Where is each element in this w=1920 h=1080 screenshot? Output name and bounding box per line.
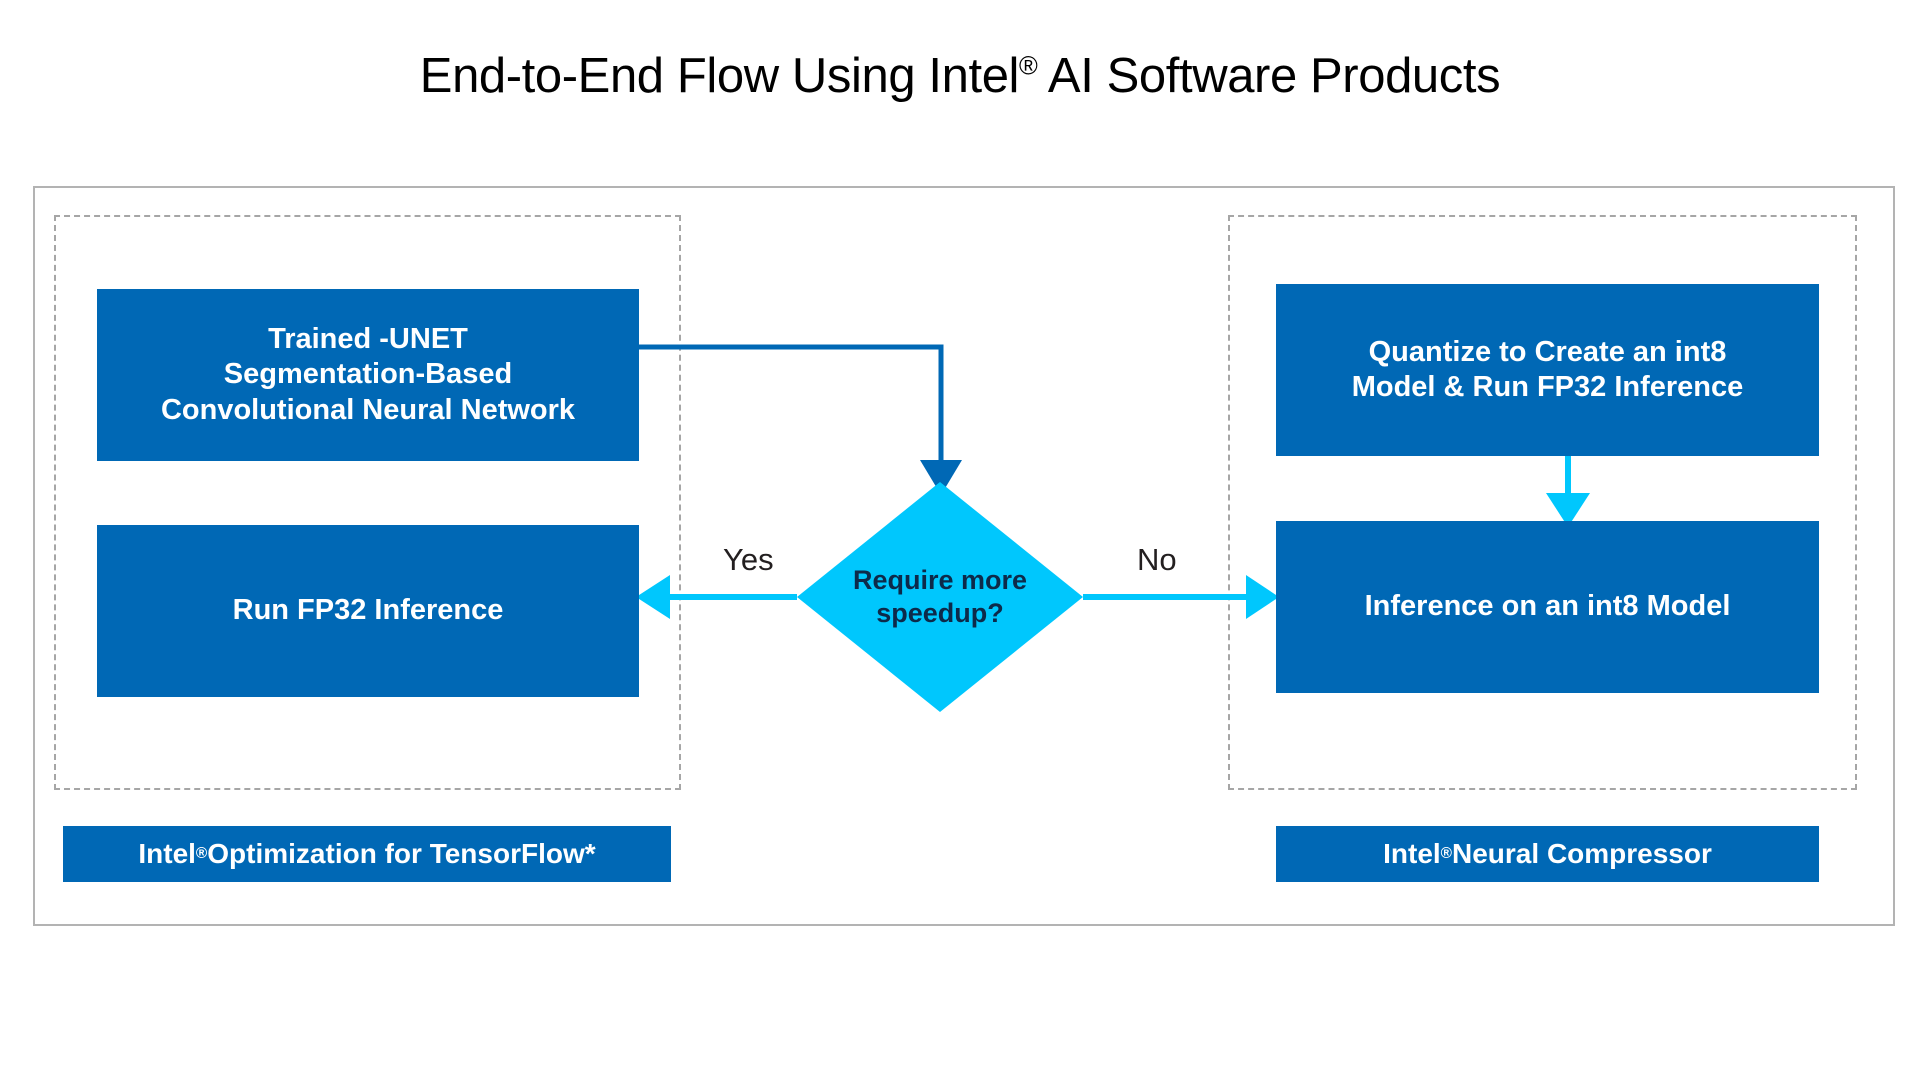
page-title: End-to-End Flow Using Intel® AI Software… <box>0 48 1920 104</box>
registered-mark-icon: ® <box>1019 53 1037 81</box>
process-box-quantize-int8[interactable]: Quantize to Create an int8 Model & Run F… <box>1276 284 1819 456</box>
page-title-suffix: AI Software Products <box>1037 49 1500 103</box>
product-label-intel-neural-compressor[interactable]: Intel® Neural Compressor <box>1276 826 1819 882</box>
product-label-tensorflow-suffix: Optimization for TensorFlow* <box>207 838 595 870</box>
product-label-compressor-prefix: Intel <box>1383 838 1441 870</box>
process-box-inference-int8-model-label: Inference on an int8 Model <box>1365 589 1731 624</box>
process-box-quantize-int8-label: Quantize to Create an int8 Model & Run F… <box>1352 335 1744 406</box>
process-box-inference-int8-model[interactable]: Inference on an int8 Model <box>1276 521 1819 693</box>
edge-label-yes: Yes <box>723 542 774 578</box>
edge-label-no: No <box>1137 542 1177 578</box>
process-box-trained-unet[interactable]: Trained -UNET Segmentation-Based Convolu… <box>97 289 639 461</box>
decision-diamond-label: Require more speedup? <box>797 482 1083 712</box>
process-box-trained-unet-label: Trained -UNET Segmentation-Based Convolu… <box>161 322 575 428</box>
product-label-compressor-suffix: Neural Compressor <box>1452 838 1712 870</box>
process-box-run-fp32-inference-label: Run FP32 Inference <box>233 593 504 628</box>
product-label-tensorflow-prefix: Intel <box>138 838 196 870</box>
process-box-run-fp32-inference[interactable]: Run FP32 Inference <box>97 525 639 697</box>
decision-diamond-require-more-speedup[interactable]: Require more speedup? <box>797 482 1083 712</box>
product-label-intel-optimization-for-tensorflow[interactable]: Intel® Optimization for TensorFlow* <box>63 826 671 882</box>
page-title-prefix: End-to-End Flow Using Intel <box>420 49 1019 103</box>
